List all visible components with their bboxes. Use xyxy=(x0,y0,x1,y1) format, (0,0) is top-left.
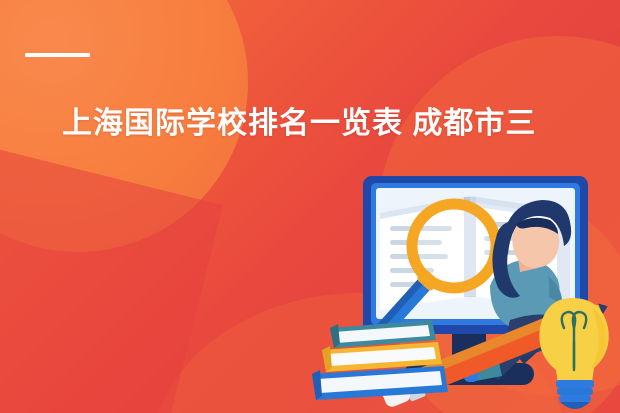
online-research-illustration xyxy=(312,168,620,413)
page-title: 上海国际学校排名一览表 成都市三 xyxy=(62,104,620,144)
banner-card: 上海国际学校排名一览表 成都市三 xyxy=(0,0,620,413)
accent-divider xyxy=(25,53,90,57)
